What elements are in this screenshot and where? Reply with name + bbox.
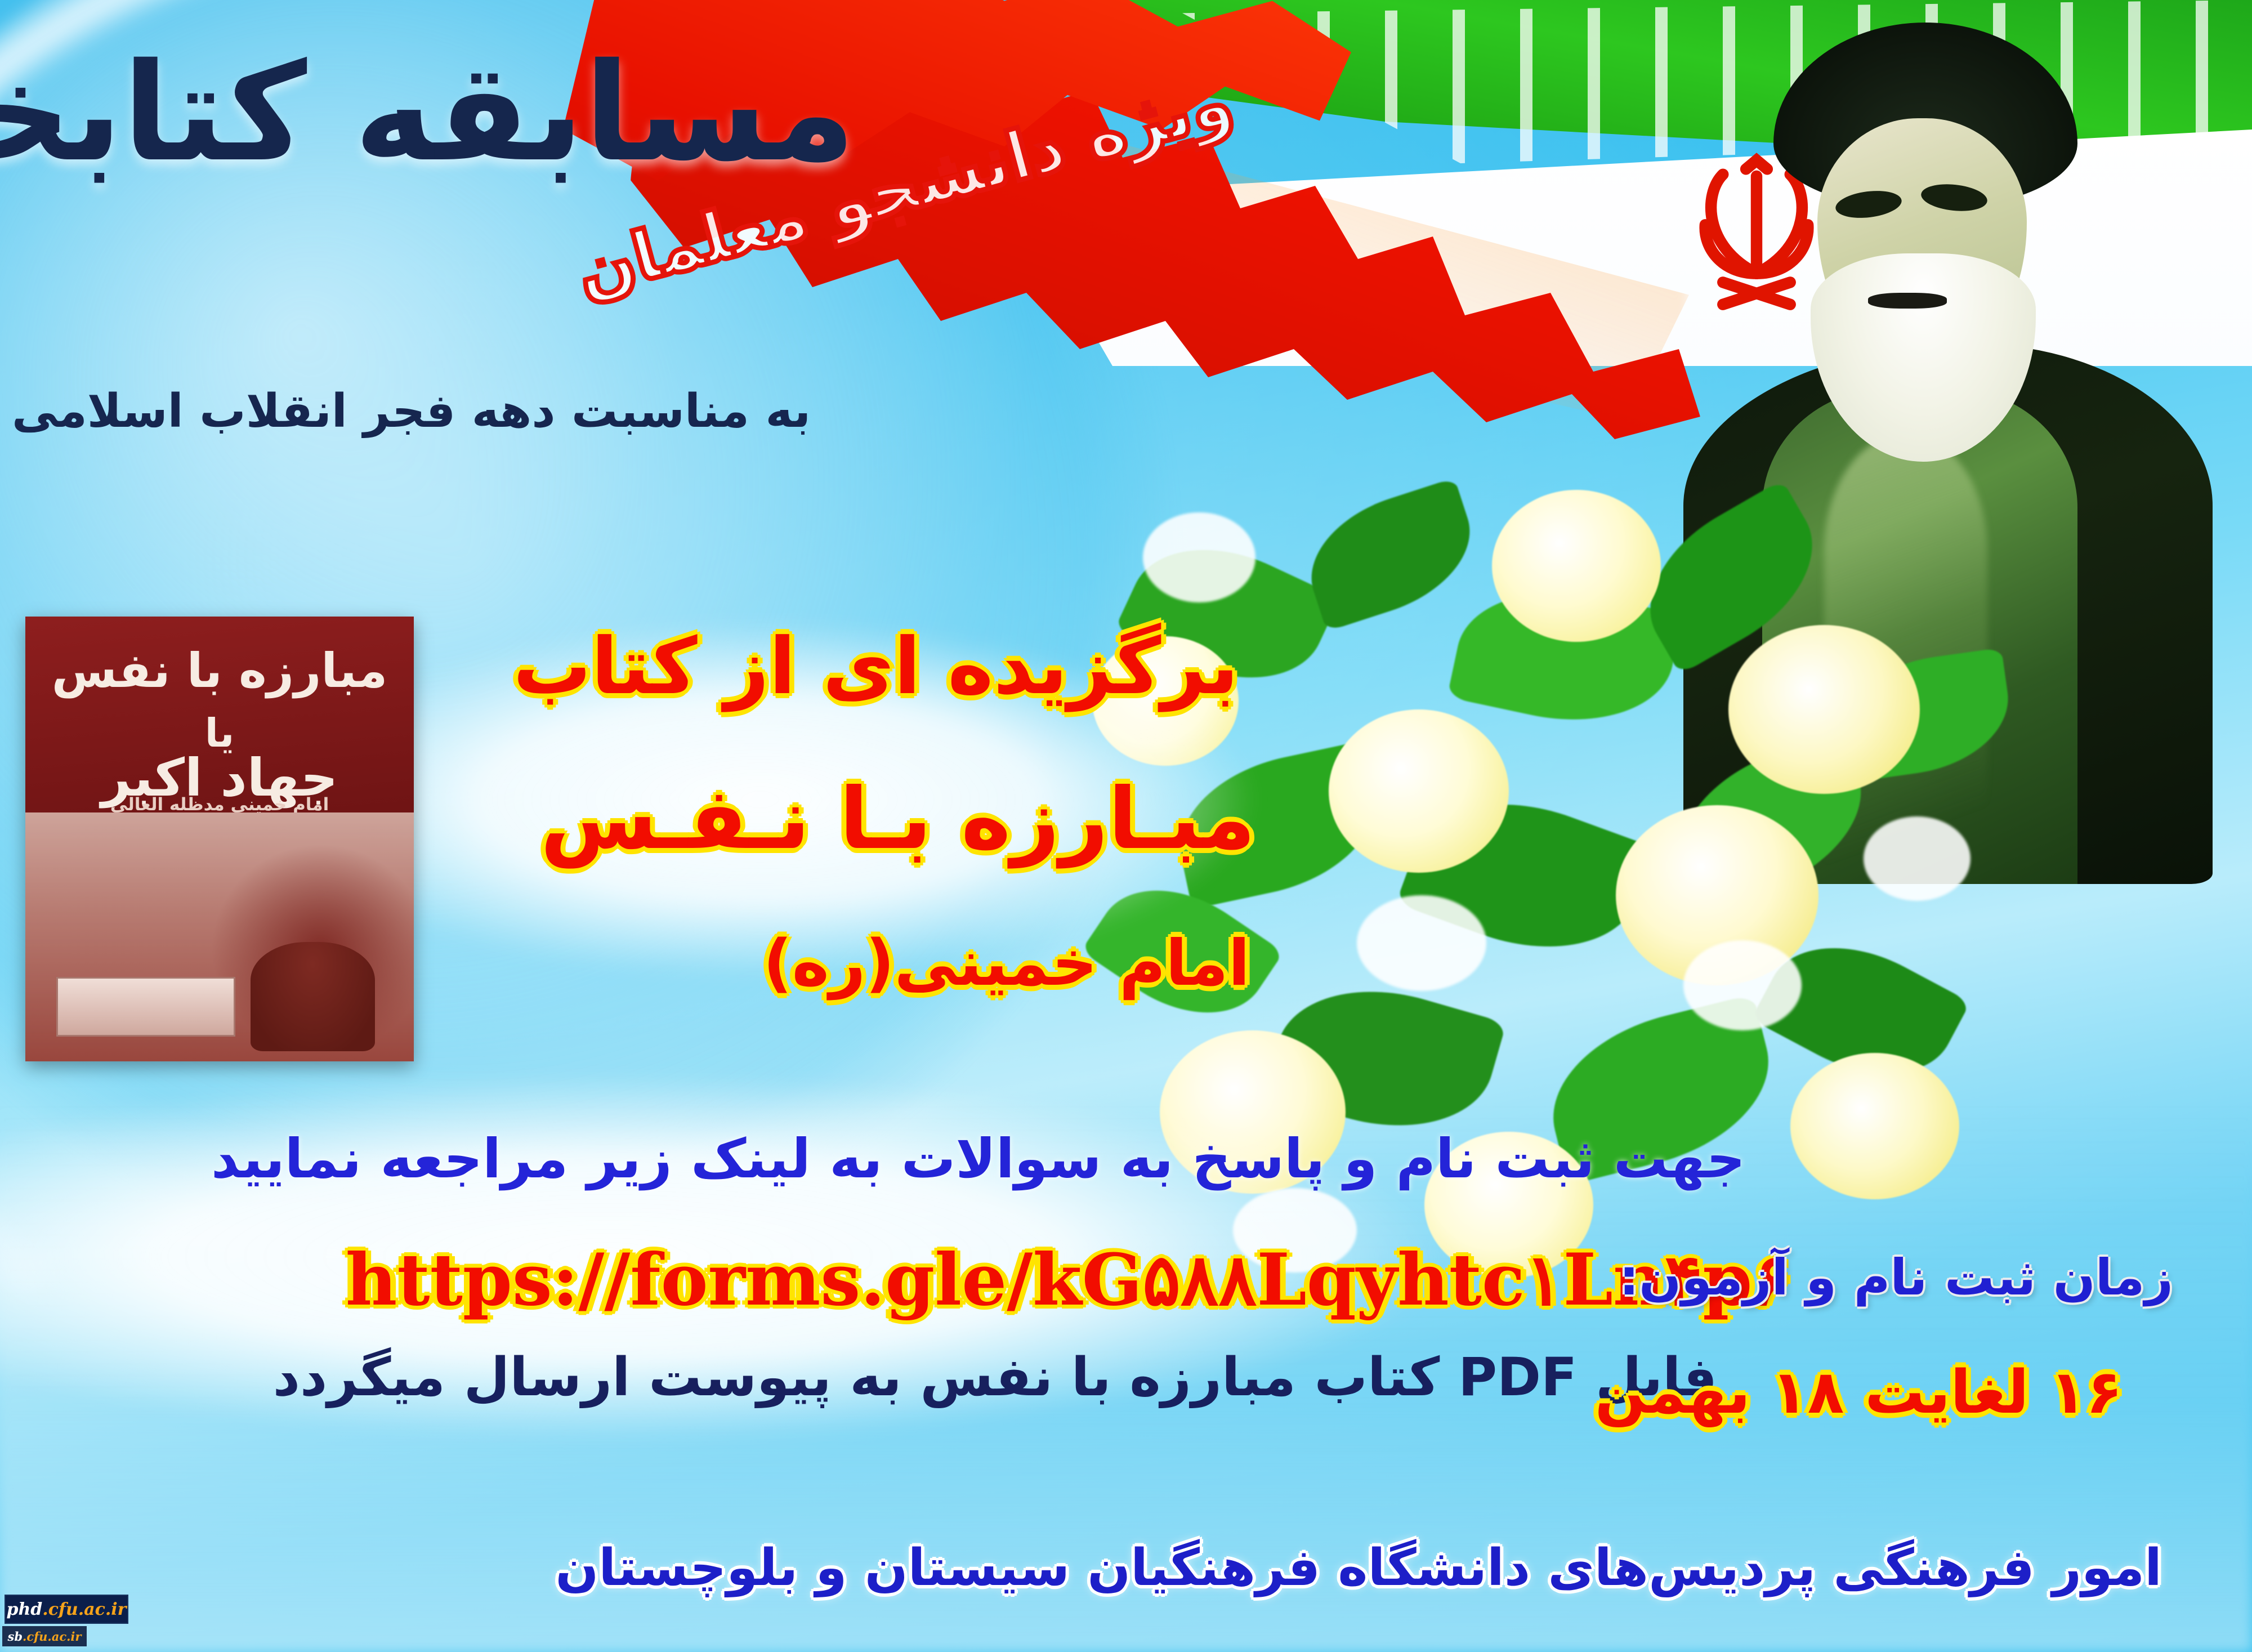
- book-cover-figure: [251, 942, 375, 1052]
- watermark-primary-prefix: phd: [7, 1600, 43, 1619]
- selected-from-label: برگزیده ای از کتاب: [513, 628, 1239, 706]
- book-cover-author: امام خمینی مدظله العالی: [25, 794, 414, 815]
- registration-instruction: جهت ثبت نام و پاسخ به سوالات به لینک زیر…: [211, 1132, 1745, 1186]
- page-subtitle: به مناسبت دهه فجر انقلاب اسلامی: [12, 389, 811, 435]
- book-title-headline: مبـارزه بـا نـفـس: [540, 777, 1255, 861]
- book-cover-desk: [56, 977, 235, 1037]
- watermark-sb-cfu: sb.cfu.ac.ir: [2, 1626, 87, 1646]
- watermark-secondary-suffix: .cfu.ac.ir: [23, 1629, 81, 1644]
- book-cover-image: مبارزه با نفس یا جهاد اکبر امام خمینی مد…: [25, 617, 414, 1061]
- organizer-footer: امور فرهنگی پردیس‌های دانشگاه فرهنگیان س…: [555, 1543, 2162, 1593]
- portrait-mouth: [1868, 293, 1947, 309]
- page-title: مسابقه کتابخوانی: [0, 45, 856, 180]
- watermark-primary-suffix: .cfu.ac.ir: [42, 1600, 126, 1619]
- watermark-phd-cfu: phd.cfu.ac.ir: [5, 1595, 128, 1624]
- watermark-secondary-prefix: sb: [8, 1629, 23, 1644]
- pdf-attachment-note: فایل PDF کتاب مبارزه با نفس به پیوست ارس…: [273, 1351, 1717, 1404]
- schedule-value: ۱۶ لغایت ۱۸ بهمن: [1595, 1363, 2123, 1422]
- schedule-label: زمان ثبت نام و آزمون:: [1619, 1253, 2173, 1302]
- poster-canvas: مسابقه کتابخوانی به مناسبت دهه فجر انقلا…: [0, 0, 2252, 1652]
- book-author-name: امام خمینی(ره): [763, 932, 1250, 995]
- book-cover-title-line1: مبارزه با نفس: [25, 643, 414, 698]
- registration-link[interactable]: https://forms.gle/kG۵۸۸Lqyhtc۱Ln۴p۶: [346, 1244, 1790, 1315]
- book-cover-photo: [25, 812, 414, 1061]
